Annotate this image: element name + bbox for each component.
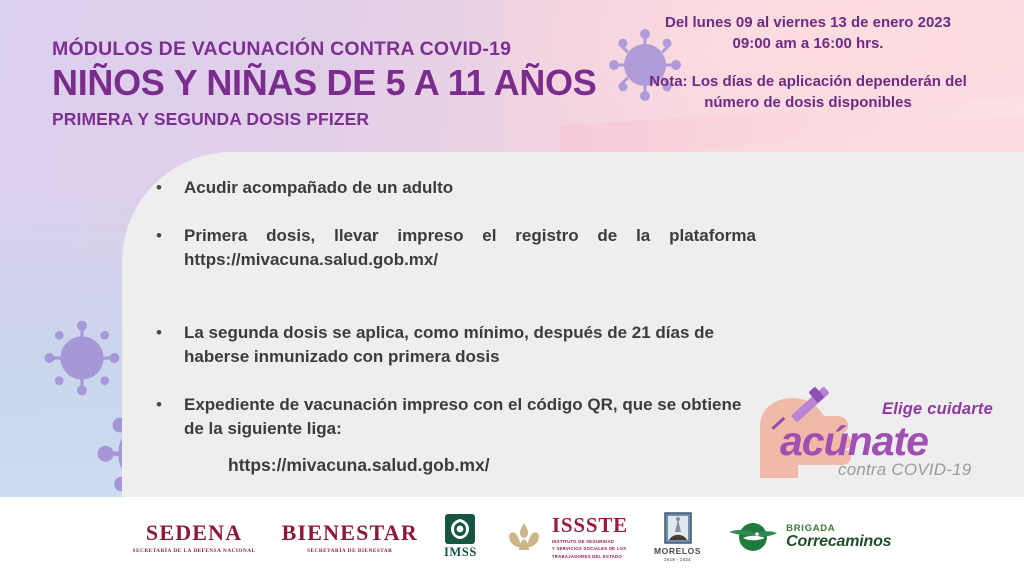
list-item: • Acudir acompañado de un adulto [156, 176, 756, 200]
logo-imss: IMSS [444, 514, 477, 560]
logo-morelos: MORELOS 2018 - 2024 [654, 512, 701, 562]
vaccination-link[interactable]: https://mivacuna.salud.gob.mx/ [228, 455, 490, 476]
bullet-dot-icon: • [156, 176, 184, 200]
instructions-list: • Acudir acompañado de un adulto • Prime… [156, 176, 756, 465]
morelos-name: MORELOS [654, 546, 701, 556]
schedule-block: Del lunes 09 al viernes 13 de enero 2023… [610, 12, 1006, 113]
page-subtitle-top: MÓDULOS DE VACUNACIÓN CONTRA COVID-19 [52, 38, 612, 61]
logo-sedena: SEDENA SECRETARÍA DE LA DEFENSA NACIONAL [133, 520, 256, 554]
sedena-name: SEDENA [133, 520, 256, 546]
issste-hands-icon [503, 517, 545, 557]
imss-eagle-icon [445, 514, 475, 544]
issste-subtitle-1: INSTITUTO DE SEGURIDAD [552, 539, 628, 545]
list-item-text: Primera dosis, llevar impreso el registr… [184, 224, 756, 296]
page-title: NIÑOS Y NIÑAS DE 5 A 11 AÑOS [52, 62, 612, 104]
issste-subtitle-3: TRABAJADORES DEL ESTADO [552, 554, 628, 560]
sedena-subtitle: SECRETARÍA DE LA DEFENSA NACIONAL [133, 548, 256, 554]
issste-name: ISSSTE [552, 513, 628, 538]
logo-brigada-correcaminos: BRIGADA Correcaminos [727, 520, 891, 554]
list-item: • La segunda dosis se aplica, como mínim… [156, 321, 756, 369]
bienestar-name: BIENESTAR [282, 520, 418, 546]
header-title-block: MÓDULOS DE VACUNACIÓN CONTRA COVID-19 NI… [52, 38, 612, 130]
bienestar-subtitle: SECRETARÍA DE BIENESTAR [282, 548, 418, 554]
vacunate-subtitle: contra COVID-19 [838, 460, 971, 480]
bullet-dot-icon: • [156, 224, 184, 296]
logo-bienestar: BIENESTAR SECRETARÍA DE BIENESTAR [282, 520, 418, 554]
vacunate-tagline: Elige cuidarte [882, 400, 993, 419]
bullet-dot-icon: • [156, 321, 184, 369]
brigada-name-line-2: Correcaminos [786, 533, 891, 551]
virus-particle-icon [42, 318, 122, 398]
list-item: • Primera dosis, llevar impreso el regis… [156, 224, 756, 296]
note-line-1: Nota: Los días de aplicación dependerán … [610, 71, 1006, 92]
morelos-years: 2018 - 2024 [664, 557, 691, 562]
bullet-dot-icon: • [156, 393, 184, 441]
poster-root: MÓDULOS DE VACUNACIÓN CONTRA COVID-19 NI… [0, 0, 1024, 576]
vacunate-logo: Elige cuidarte acúnate contra COVID-19 [752, 372, 1014, 494]
list-item-text: Acudir acompañado de un adulto [184, 176, 756, 200]
note-line-2: número de dosis disponibles [610, 92, 1006, 113]
logo-issste: ISSSTE INSTITUTO DE SEGURIDAD Y SERVICIO… [503, 513, 628, 560]
issste-subtitle-2: Y SERVICIOS SOCIALES DE LOS [552, 546, 628, 552]
list-item: • Expediente de vacunación impreso con e… [156, 393, 756, 441]
date-range-text: Del lunes 09 al viernes 13 de enero 2023 [610, 12, 1006, 33]
imss-name: IMSS [444, 545, 477, 560]
list-item-text: La segunda dosis se aplica, como mínimo,… [184, 321, 756, 369]
footer-logos: SEDENA SECRETARÍA DE LA DEFENSA NACIONAL… [0, 497, 1024, 576]
hours-text: 09:00 am a 16:00 hrs. [610, 33, 1006, 54]
page-subtitle-bottom: PRIMERA Y SEGUNDA DOSIS PFIZER [52, 109, 612, 130]
list-item-text: Expediente de vacunación impreso con el … [184, 393, 756, 441]
vacunate-wordmark: acúnate [780, 418, 928, 465]
roadrunner-bird-icon [727, 520, 779, 554]
morelos-coat-of-arms-icon [664, 512, 692, 544]
